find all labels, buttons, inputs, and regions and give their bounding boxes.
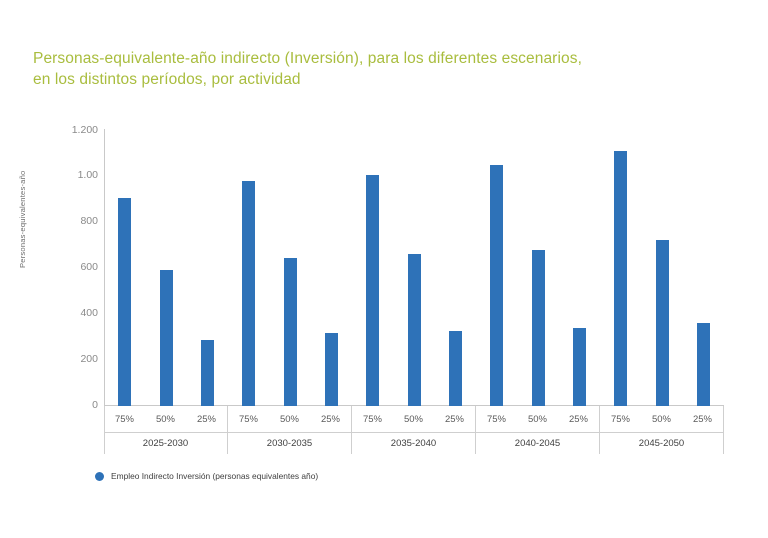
chart-title-line-2: en los distintos períodos, por actividad [33,69,673,90]
category-scenario-label: 75% [476,414,517,425]
bar [449,331,462,406]
category-scenario-label: 25% [682,414,723,425]
chart-legend: Empleo Indirecto Inversión (personas equ… [95,471,318,481]
y-tick-1200: 1.200 [38,124,98,136]
bar [366,175,379,406]
category-scenario-label: 75% [600,414,641,425]
category-scenario-row: 75%50%25% [352,406,475,433]
bar [490,165,503,406]
category-period-label: 2025-2030 [104,433,227,454]
category-scenario-label: 50% [641,414,682,425]
bar [201,340,214,406]
legend-marker-icon [95,472,104,481]
y-tick-0: 0 [38,399,98,411]
bar [697,323,710,406]
bar [118,198,131,406]
category-scenario-label: 75% [228,414,269,425]
bar [573,328,586,406]
bar [408,254,421,406]
bar [532,250,545,406]
y-tick-600: 600 [38,261,98,273]
bar [284,258,297,406]
category-scenario-label: 75% [352,414,393,425]
y-tick-800: 800 [38,215,98,227]
category-scenario-label: 25% [558,414,599,425]
category-scenario-row: 75%50%25% [600,406,723,433]
y-axis-tick-labels: 1.200 1.00 800 600 400 200 0 [33,0,98,538]
category-scenario-label: 25% [434,414,475,425]
category-scenario-row: 75%50%25% [228,406,351,433]
legend-label: Empleo Indirecto Inversión (personas equ… [111,471,318,481]
category-scenario-row: 75%50%25% [104,406,227,433]
bar [614,151,627,406]
y-axis-title: Personas-equivalentes-año [18,171,27,268]
category-scenario-row: 75%50%25% [476,406,599,433]
y-tick-1000: 1.00 [38,169,98,181]
category-group: 75%50%25%2030-2035 [228,406,352,454]
category-scenario-label: 50% [393,414,434,425]
category-scenario-label: 50% [145,414,186,425]
y-tick-200: 200 [38,353,98,365]
category-scenario-label: 50% [517,414,558,425]
category-group: 75%50%25%2035-2040 [352,406,476,454]
category-period-label: 2035-2040 [352,433,475,454]
category-scenario-label: 25% [310,414,351,425]
bar [242,181,255,406]
category-group: 75%50%25%2040-2045 [476,406,600,454]
category-period-label: 2045-2050 [600,433,723,454]
bar [656,240,669,406]
category-scenario-label: 25% [186,414,227,425]
bar [160,270,173,406]
category-group: 75%50%25%2045-2050 [600,406,724,454]
category-scenario-label: 50% [269,414,310,425]
category-axis: 75%50%25%2025-203075%50%25%2030-203575%5… [104,406,724,454]
chart-title: Personas-equivalente-año indirecto (Inve… [33,48,673,90]
category-period-label: 2040-2045 [476,433,599,454]
category-group: 75%50%25%2025-2030 [104,406,228,454]
bars-layer [104,129,724,406]
y-tick-400: 400 [38,307,98,319]
chart-title-line-1: Personas-equivalente-año indirecto (Inve… [33,48,673,69]
bar [325,333,338,406]
category-scenario-label: 75% [104,414,145,425]
category-period-label: 2030-2035 [228,433,351,454]
